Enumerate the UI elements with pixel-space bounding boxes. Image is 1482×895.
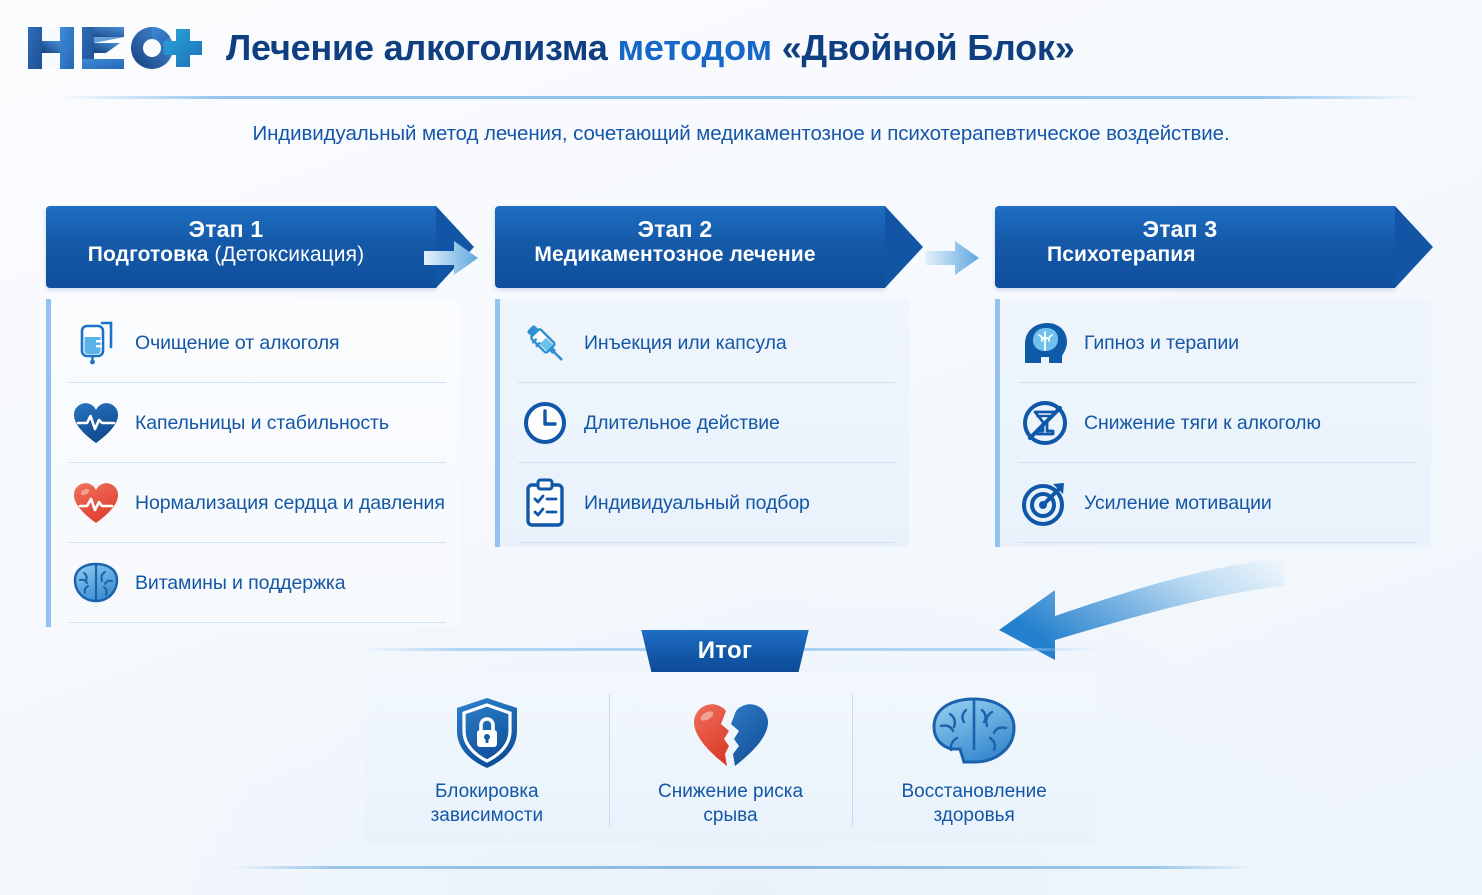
arrow-right-icon (424, 238, 480, 278)
stage-1-name-suffix: (Детоксикация) (208, 243, 364, 266)
broken-heart-icon (688, 694, 774, 772)
result-item-label: Восстановление здоровья (902, 780, 1047, 828)
result-item[interactable]: Восстановление здоровья (852, 672, 1096, 844)
neo-plus-logo-icon (26, 23, 204, 73)
brain-icon (69, 556, 123, 610)
stage-2-name-main: Медикаментозное лечение (534, 243, 815, 266)
stage-3-name: Психотерапия (1011, 243, 1349, 268)
list-item-label: Длительное действие (584, 412, 780, 434)
list-item[interactable]: Капельницы и стабильность (51, 383, 460, 463)
list-item-label: Витамины и поддержка (135, 572, 346, 594)
list-item[interactable]: Очищение от алкоголя (51, 303, 460, 383)
list-item-label: Индивидуальный подбор (584, 492, 810, 514)
stage-1-items: Очищение от алкоголя Капельницы и стабил… (46, 299, 460, 627)
stage-column-1: Этап 1 Подготовка (Детоксикация) Очищ (46, 206, 460, 627)
list-item[interactable]: Индивидуальный подбор (500, 463, 909, 543)
clock-icon (518, 396, 572, 450)
no-alcohol-glass-icon (1018, 396, 1072, 450)
heart-pulse-blue-icon (69, 396, 123, 450)
result-item[interactable]: Блокировка зависимости (365, 672, 609, 844)
target-arrow-icon (1018, 476, 1072, 530)
stage-3-name-main: Психотерапия (1047, 243, 1196, 266)
list-item[interactable]: Длительное действие (500, 383, 909, 463)
brain-icon (926, 694, 1022, 772)
clipboard-checklist-icon (518, 476, 572, 530)
title-part-1: Лечение алкоголизма (226, 27, 608, 68)
stage-column-3: Этап 3 Психотерапия Гипноз и терапии (995, 206, 1431, 547)
list-item[interactable]: Снижение тяги к алкоголю (1000, 383, 1431, 463)
page-header: Лечение алкоголизма методом «Двойной Бло… (0, 0, 1482, 95)
stage-1-number: Этап 1 (62, 217, 390, 243)
list-item-label: Капельницы и стабильность (135, 412, 389, 434)
infographic-canvas: Лечение алкоголизма методом «Двойной Бло… (0, 0, 1482, 895)
page-subtitle: Индивидуальный метод лечения, сочетающий… (0, 122, 1482, 146)
footer-divider (230, 866, 1255, 869)
result-panel: Блокировка зависимости (365, 672, 1096, 844)
list-item-label: Усиление мотивации (1084, 492, 1272, 514)
list-item[interactable]: Инъекция или капсула (500, 303, 909, 383)
stage-3-items: Гипноз и терапии Снижение тяги к алкогол… (995, 299, 1431, 547)
stage-2-number: Этап 2 (511, 217, 839, 243)
list-item[interactable]: Витамины и поддержка (51, 543, 460, 623)
heart-pulse-red-icon (69, 476, 123, 530)
result-item[interactable]: Снижение риска срыва (609, 672, 853, 844)
list-item-label: Гипноз и терапии (1084, 332, 1239, 354)
list-item[interactable]: Нормализация сердца и давления (51, 463, 460, 543)
stage-connector-arrow-1 (424, 238, 480, 278)
list-item[interactable]: Гипноз и терапии (1000, 303, 1431, 383)
syringe-icon (518, 316, 572, 370)
brand-logo (26, 23, 204, 73)
title-part-3: «Двойной Блок» (782, 27, 1075, 68)
list-item-label: Нормализация сердца и давления (135, 492, 445, 514)
header-divider (60, 96, 1422, 99)
stage-1-name-main: Подготовка (88, 243, 209, 266)
title-part-2: методом (617, 27, 771, 68)
iv-drip-bag-icon (69, 316, 123, 370)
result-badge: Итог (633, 630, 817, 672)
stage-2-items: Инъекция или капсула Длительное действие (495, 299, 909, 547)
stage-2-header: Этап 2 Медикаментозное лечение (495, 206, 885, 288)
page-title: Лечение алкоголизма методом «Двойной Бло… (226, 30, 1075, 66)
list-item[interactable]: Усиление мотивации (1000, 463, 1431, 543)
stage-1-name: Подготовка (Детоксикация) (62, 243, 390, 268)
head-brain-icon (1018, 316, 1072, 370)
stage-3-header: Этап 3 Психотерапия (995, 206, 1395, 288)
list-item-label: Инъекция или капсула (584, 332, 787, 354)
stage-3-number: Этап 3 (1011, 217, 1349, 243)
stage-1-header: Этап 1 Подготовка (Детоксикация) (46, 206, 436, 288)
stage-connector-arrow-2 (925, 238, 981, 278)
shield-lock-icon (451, 694, 523, 772)
stage-column-2: Этап 2 Медикаментозное лечение (495, 206, 909, 547)
stage-2-name: Медикаментозное лечение (511, 243, 839, 268)
list-item-label: Очищение от алкоголя (135, 332, 339, 354)
result-item-label: Блокировка зависимости (431, 780, 544, 828)
arrow-right-icon (925, 238, 981, 278)
list-item-label: Снижение тяги к алкоголю (1084, 412, 1321, 434)
result-item-label: Снижение риска срыва (658, 780, 803, 828)
